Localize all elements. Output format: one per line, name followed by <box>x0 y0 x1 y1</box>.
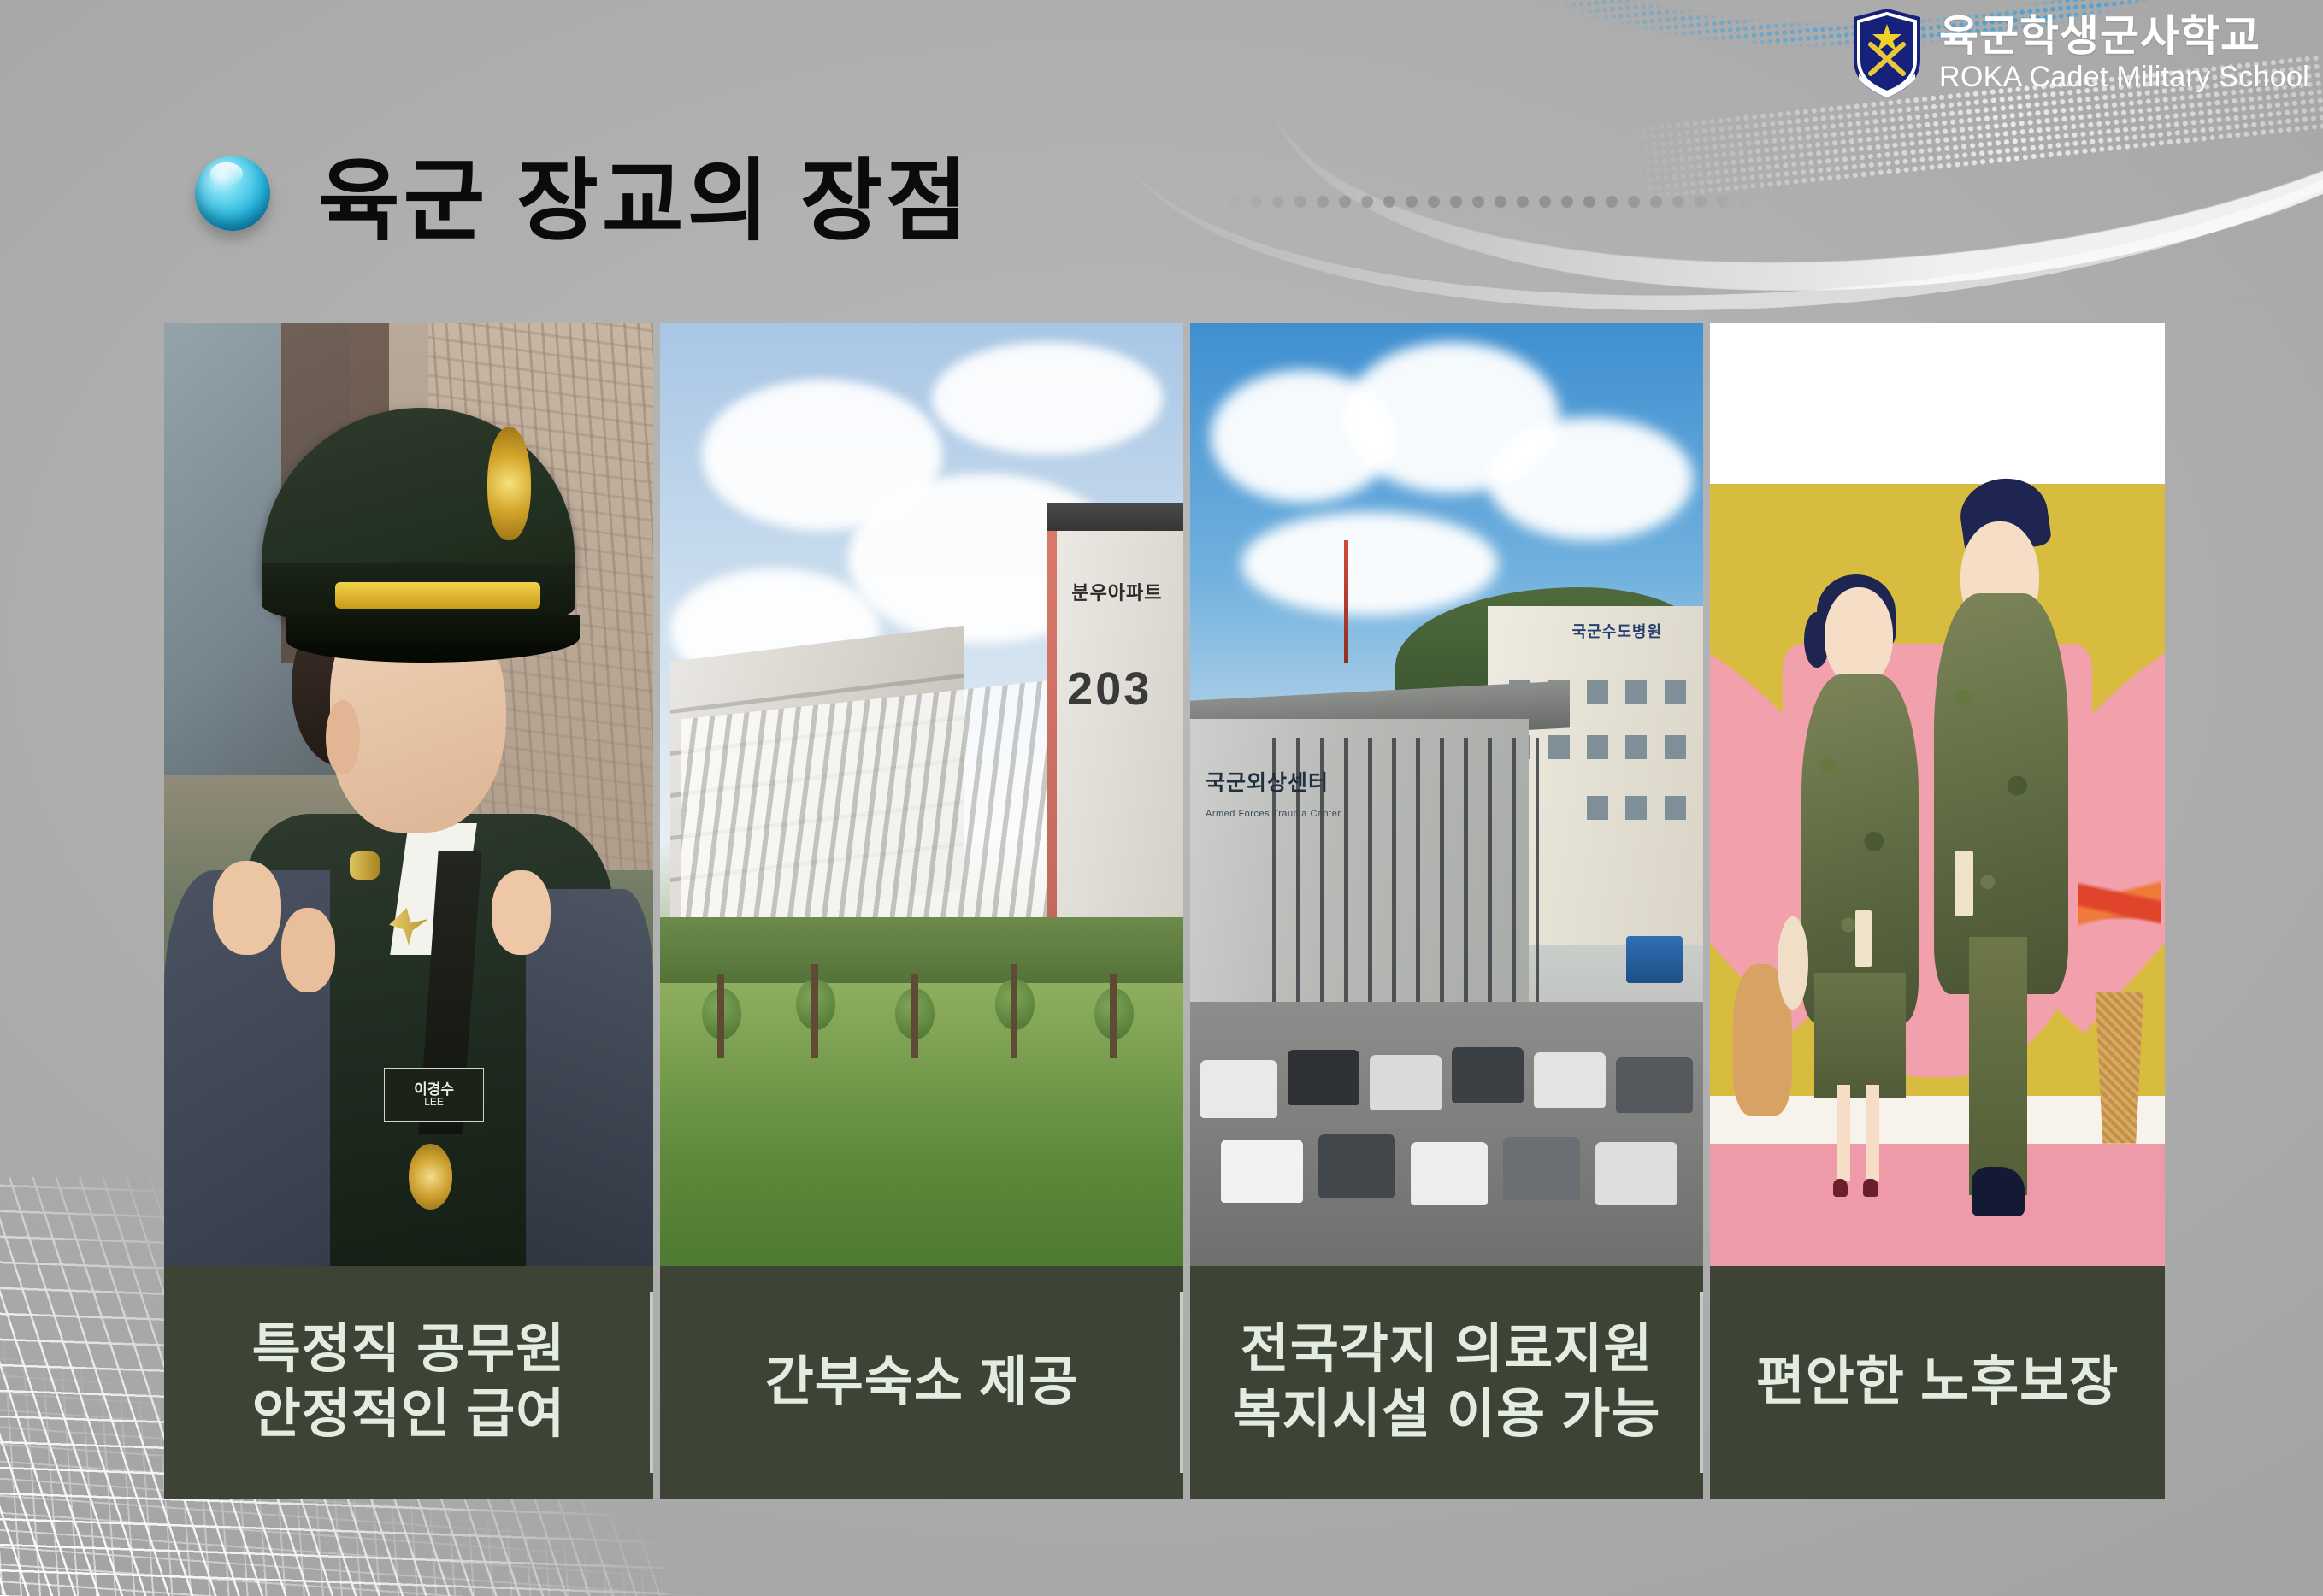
page-title: 육군 장교의 장점 <box>318 128 971 257</box>
caption-divider <box>1700 1292 1703 1473</box>
benefit-caption-1-text: 특정직 공무원 안정적인 급여 <box>252 1317 565 1446</box>
nametag-korean: 이경수 <box>414 1082 454 1097</box>
benefit-panel-2: 분우아파트 203 간부숙소 제공 <box>660 323 1183 1499</box>
building-number-text: 203 <box>1067 663 1152 716</box>
benefit-caption-3: 전국각지 의료지원 복지시설 이용 가능 <box>1190 1266 1703 1499</box>
roka-shield-emblem-icon <box>1850 7 1924 99</box>
apartment-name-text: 분우아파트 <box>1071 578 1162 605</box>
retirement-couple-illustration <box>1710 323 2165 1266</box>
school-logo: 육군학생군사학교 ROKA Cadet Military School <box>1850 7 2309 99</box>
benefit-panel-4: 편안한 노후보장 <box>1710 323 2165 1499</box>
cadet-officer-photo: 이경수 LEE <box>164 323 653 1266</box>
logo-name-english: ROKA Cadet Military School <box>1939 62 2309 91</box>
military-hospital-photo: 국군수도병원 국군외상센터 Armed Forces Trauma Center <box>1190 323 1703 1266</box>
caption-divider <box>650 1292 653 1473</box>
nametag-english: LEE <box>424 1097 444 1108</box>
hospital-rooftop-sign: 국군수도병원 <box>1572 620 1662 642</box>
title-dotted-rule-decoration <box>1223 192 1753 211</box>
slide-title-row: 육군 장교의 장점 <box>195 128 971 257</box>
officer-housing-photo: 분우아파트 203 <box>660 323 1183 1266</box>
illustration-dog <box>1733 964 1792 1115</box>
uniform-nametag: 이경수 LEE <box>384 1068 483 1122</box>
benefit-caption-3-text: 전국각지 의료지원 복지시설 이용 가능 <box>1233 1317 1661 1446</box>
benefits-photo-strip: 이경수 LEE 특정직 공무원 안정적인 급여 <box>164 323 2158 1499</box>
logo-name-korean: 육군학생군사학교 <box>1939 15 2309 57</box>
illustration-man-figure <box>1928 493 2073 1210</box>
benefit-panel-3: 국군수도병원 국군외상센터 Armed Forces Trauma Center <box>1190 323 1703 1499</box>
trauma-center-sign-english: Armed Forces Trauma Center <box>1206 809 1341 819</box>
trauma-center-sign-korean: 국군외상센터 <box>1206 766 1329 797</box>
caption-divider <box>1180 1292 1183 1473</box>
illustration-plant-leaves <box>2078 804 2161 1012</box>
benefit-caption-4: 편안한 노후보장 <box>1710 1266 2165 1499</box>
glossy-sphere-bullet-icon <box>195 156 270 231</box>
illustration-woman-figure <box>1796 587 1924 1210</box>
benefit-caption-4-text: 편안한 노후보장 <box>1756 1350 2120 1415</box>
benefit-caption-1: 특정직 공무원 안정적인 급여 <box>164 1266 653 1499</box>
benefit-caption-2: 간부숙소 제공 <box>660 1266 1183 1499</box>
presentation-slide: 육군학생군사학교 ROKA Cadet Military School 육군 장… <box>0 0 2323 1596</box>
benefit-panel-1: 이경수 LEE 특정직 공무원 안정적인 급여 <box>164 323 653 1499</box>
benefit-caption-2-text: 간부숙소 제공 <box>765 1350 1078 1415</box>
